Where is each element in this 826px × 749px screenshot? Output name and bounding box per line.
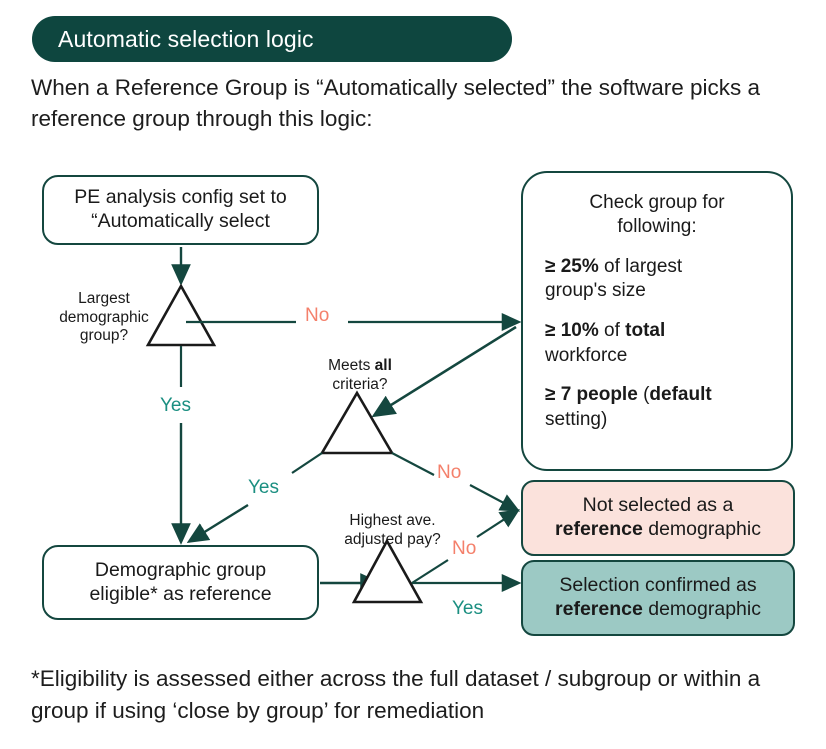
decision-largest-line2: demographic — [48, 309, 160, 328]
edge-label-yes-meets-criteria: Yes — [248, 477, 279, 499]
edge-no-3-seg-a — [412, 560, 448, 583]
node-confirmed-bold: reference — [555, 598, 643, 620]
decision-meets-line1-bold: all — [375, 357, 392, 374]
decision-label-highest-pay: Highest ave. adjusted pay? — [320, 512, 465, 549]
edge-label-yes-largest-group: Yes — [160, 395, 191, 417]
criterion-10-rest: workforce — [545, 345, 627, 366]
node-confirmed-line2: reference demographic — [555, 598, 761, 622]
node-not-selected-rest: demographic — [643, 518, 761, 540]
criterion-10-prefix: ≥ 10% — [545, 320, 599, 341]
node-demographic-group-eligible: Demographic group eligible* as reference — [42, 545, 319, 620]
flowchart-diagram: PE analysis config set to “Automatically… — [0, 155, 826, 655]
criterion-10-percent: ≥ 10% of totalworkforce — [545, 319, 769, 368]
node-eligible-line1: Demographic group — [89, 559, 271, 583]
decision-highest-line2: adjusted pay? — [320, 531, 465, 550]
decision-highest-line1: Highest ave. — [320, 512, 465, 531]
node-not-selected: Not selected as a reference demographic — [521, 480, 795, 556]
edge-no-2-seg-a — [392, 453, 434, 475]
footer-note: *Eligibility is assessed either across t… — [31, 663, 821, 727]
edge-no-3-seg-b — [477, 511, 517, 537]
edge-yes-2-seg-b — [190, 505, 248, 541]
node-check-group: Check group for following: ≥ 25% of larg… — [521, 171, 793, 471]
decision-label-largest-group: Largest demographic group? — [48, 290, 160, 346]
node-check-title-line2: following: — [545, 215, 769, 239]
decision-triangle-meets-criteria — [322, 393, 392, 453]
node-not-selected-line1: Not selected as a — [555, 494, 761, 518]
node-check-title: Check group for following: — [545, 191, 769, 239]
node-not-selected-bold: reference — [555, 518, 643, 540]
criterion-25-mid: of largest — [599, 256, 682, 277]
criterion-7-people: ≥ 7 people (defaultsetting) — [545, 383, 769, 432]
node-pe-analysis-config: PE analysis config set to “Automatically… — [42, 175, 319, 245]
decision-triangle-highest-pay — [354, 541, 421, 602]
decision-label-meets-criteria: Meets all criteria? — [295, 357, 425, 394]
node-check-title-line1: Check group for — [545, 191, 769, 215]
page-title: Automatic selection logic — [58, 26, 314, 53]
header-banner: Automatic selection logic — [32, 16, 512, 62]
criterion-7-bold2: default — [649, 384, 711, 405]
criterion-7-prefix: ≥ 7 people — [545, 384, 638, 405]
edge-label-no-meets-criteria: No — [437, 462, 461, 484]
edge-label-no-highest-pay: No — [452, 538, 476, 560]
edge-label-no-largest-group: No — [305, 305, 329, 327]
edge-yes-2-seg-a — [292, 453, 322, 473]
node-eligible-line2: eligible* as reference — [89, 583, 271, 607]
node-not-selected-line2: reference demographic — [555, 518, 761, 542]
node-confirmed-rest: demographic — [643, 598, 761, 620]
intro-paragraph: When a Reference Group is “Automatically… — [31, 72, 791, 134]
node-config-line2: “Automatically select — [74, 210, 286, 234]
decision-largest-line1: Largest — [48, 290, 160, 309]
edge-label-yes-highest-pay: Yes — [452, 598, 483, 620]
criterion-7-mid: ( — [638, 384, 650, 405]
node-selection-confirmed: Selection confirmed as reference demogra… — [521, 560, 795, 636]
decision-meets-line2: criteria? — [295, 376, 425, 395]
decision-meets-line1: Meets all — [295, 357, 425, 376]
node-config-line1: PE analysis config set to — [74, 186, 286, 210]
criterion-25-prefix: ≥ 25% — [545, 256, 599, 277]
edge-no-2-seg-b — [470, 485, 517, 510]
criterion-7-rest: setting) — [545, 409, 607, 430]
decision-largest-line3: group? — [48, 327, 160, 346]
criterion-10-bold2: total — [625, 320, 665, 341]
node-confirmed-line1: Selection confirmed as — [555, 574, 761, 598]
decision-meets-line1-rest: Meets — [328, 357, 375, 374]
criterion-25-rest: group's size — [545, 280, 646, 301]
criterion-10-mid: of — [599, 320, 625, 341]
criterion-25-percent: ≥ 25% of largestgroup's size — [545, 255, 769, 304]
